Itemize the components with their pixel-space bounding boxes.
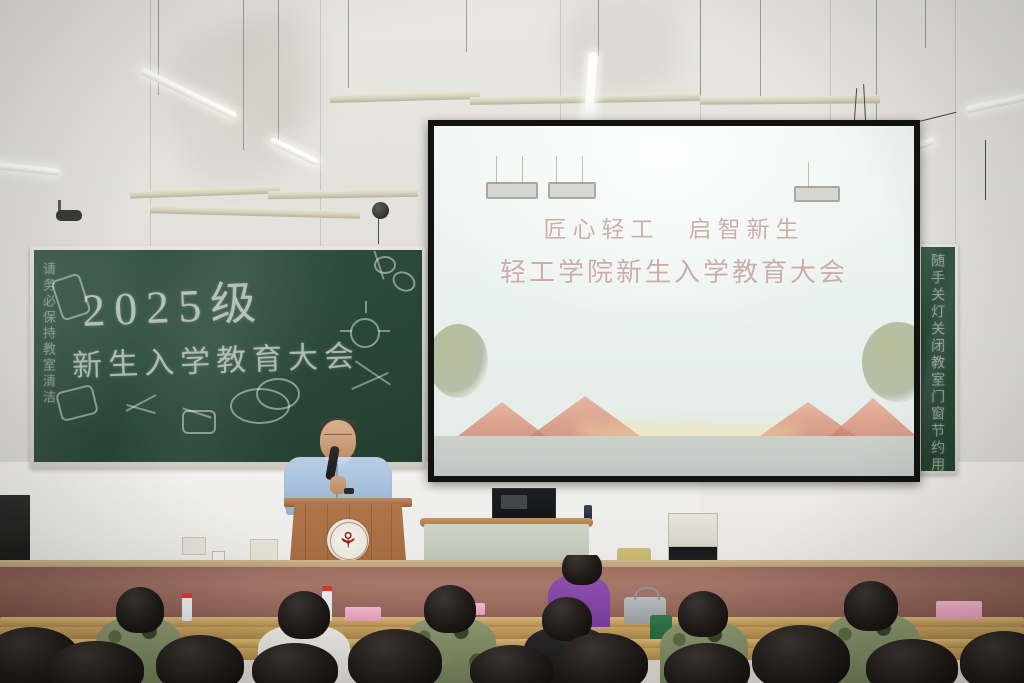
blackboard-right: 随手关灯关闭教室门窗节约用电 xyxy=(921,247,955,471)
lamp-shadow xyxy=(794,186,840,202)
attendee-head xyxy=(278,591,330,639)
monitor-screen xyxy=(501,495,527,509)
light-cord xyxy=(598,0,599,56)
chalk-doodle-ray xyxy=(365,301,367,313)
wristwatch xyxy=(344,488,354,494)
wall-cabinet xyxy=(668,513,718,549)
slide-headline: 匠心轻工 启智新生 xyxy=(434,210,914,244)
slide-tree xyxy=(862,322,914,402)
slide-artwork xyxy=(434,322,914,476)
lamp-shadow xyxy=(548,182,596,199)
bottle-cap xyxy=(182,593,192,598)
slide-rooftop xyxy=(830,398,914,436)
slide-foreground-band xyxy=(434,436,914,476)
lamp-shadow-cord xyxy=(808,162,809,188)
blackboard-right-side-note: 随手关灯关闭教室门窗节约用电 xyxy=(928,253,944,465)
lamp-shadow xyxy=(486,182,538,199)
audience-area xyxy=(0,555,1024,683)
speaker-glasses xyxy=(324,434,352,441)
chalk-doodle-cloud xyxy=(256,378,300,410)
light-cord xyxy=(760,0,761,98)
lamp-shadow-cord xyxy=(522,156,523,184)
wall-speaker-icon xyxy=(372,202,389,219)
pink-desk-item xyxy=(345,607,381,621)
slide-rooftop xyxy=(458,402,546,436)
slide-subheadline: 轻工学院新生入学教育大会 xyxy=(434,252,914,289)
chalk-doodle-leaf xyxy=(374,256,396,274)
chalk-doodle-ray xyxy=(340,330,352,332)
chalk-doodle-ray xyxy=(378,330,390,332)
projector-screen-frame: 匠心轻工 启智新生 轻工学院新生入学教育大会 xyxy=(428,120,920,482)
projector-screen: 匠心轻工 启智新生 轻工学院新生入学教育大会 xyxy=(434,126,914,476)
light-fixture-bar xyxy=(700,95,880,105)
attendee-head xyxy=(752,625,850,683)
attendee-head xyxy=(424,585,476,633)
speaker-wire xyxy=(378,218,379,244)
wall-stain xyxy=(560,0,680,90)
chalk-doodle-sun xyxy=(350,318,380,348)
light-cord xyxy=(700,0,701,95)
attendee-head xyxy=(678,591,728,637)
light-cord xyxy=(243,0,244,150)
cable xyxy=(985,140,986,200)
cctv-camera-icon xyxy=(56,210,82,221)
handbag-handle xyxy=(634,587,660,600)
wall-outlet xyxy=(182,537,206,555)
attendee-head xyxy=(116,587,164,633)
light-cord xyxy=(348,0,349,88)
lamp-shadow-cord xyxy=(556,156,557,184)
attendee-head xyxy=(844,581,898,631)
attendee-head xyxy=(562,555,602,585)
blackboard-left-line1: 2025级 xyxy=(81,266,267,340)
emblem-tree-icon: ⚘ xyxy=(338,530,358,552)
water-bottle xyxy=(182,597,192,621)
lamp-shadow-cord xyxy=(496,156,497,184)
bottle-cap xyxy=(322,586,332,591)
light-cord xyxy=(278,0,279,140)
lecture-hall-photo: 请务必保持教室清洁 2025级 新生入学教育大会 随手关灯关闭教室门窗节约用电 xyxy=(0,0,1024,683)
lamp-shadow-cord xyxy=(582,156,583,184)
slide-tree xyxy=(434,324,488,398)
pink-desk-item xyxy=(936,601,982,619)
light-cord xyxy=(466,0,467,52)
light-cord xyxy=(925,0,926,48)
